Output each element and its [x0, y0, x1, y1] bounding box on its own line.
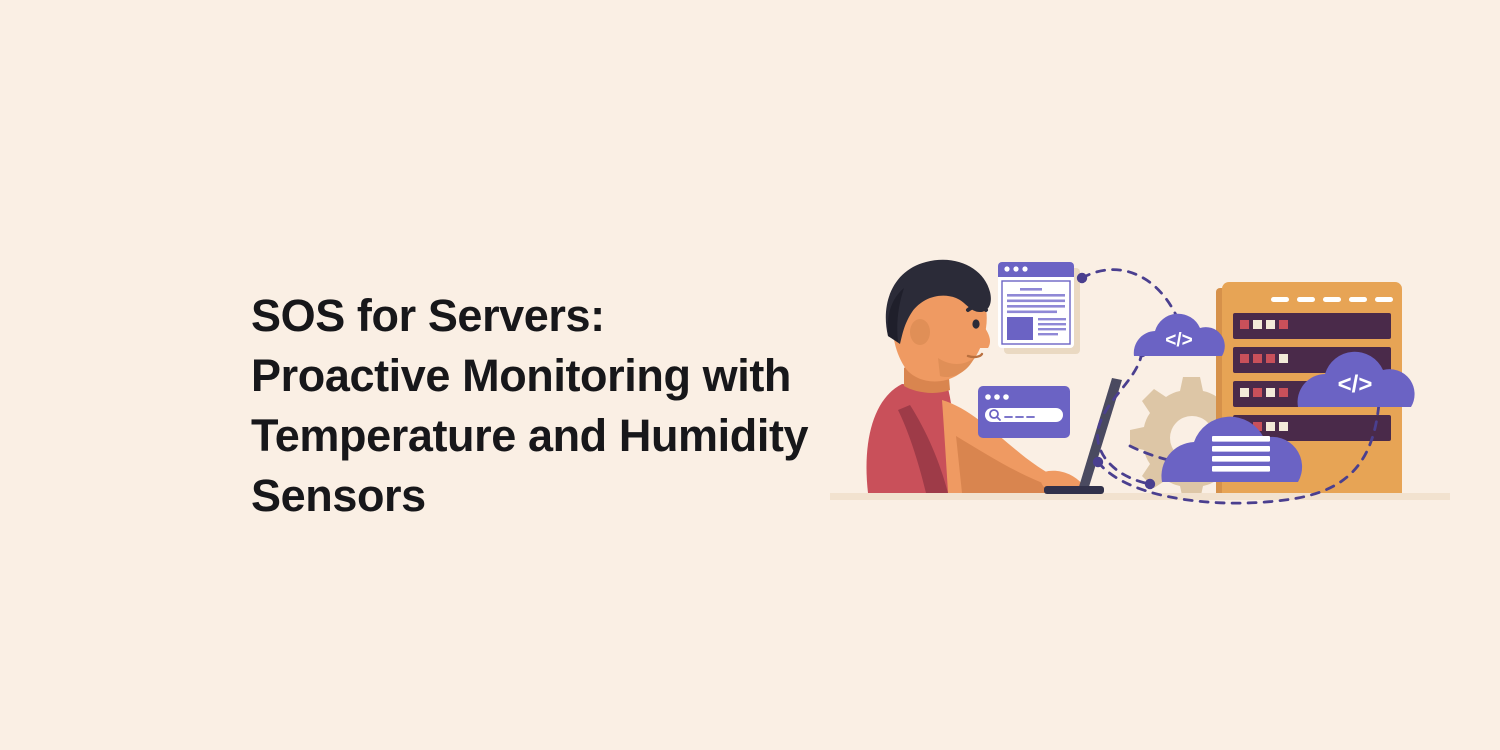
cloud-code-icon: </>: [1134, 314, 1225, 356]
desk-surface: [830, 493, 1450, 500]
hero-banner: SOS for Servers: Proactive Monitoring wi…: [0, 0, 1500, 750]
browser-card-search[interactable]: [978, 386, 1070, 438]
svg-text:</>: </>: [1338, 371, 1373, 398]
server-bay: [1233, 313, 1391, 339]
browser-card-article[interactable]: [998, 262, 1080, 354]
developer-monitoring-servers-illustration: </> </>: [830, 240, 1450, 520]
page-title: SOS for Servers: Proactive Monitoring wi…: [251, 286, 811, 526]
svg-text:</>: </>: [1165, 330, 1192, 351]
headline-block: SOS for Servers: Proactive Monitoring wi…: [251, 286, 811, 526]
